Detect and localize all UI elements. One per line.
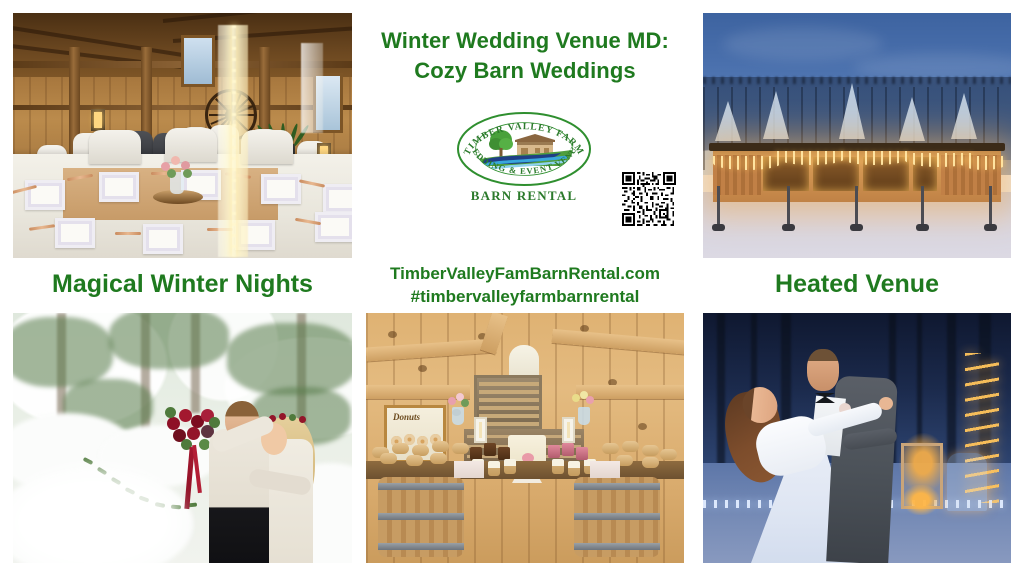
logo-subtitle: BARN RENTAL <box>455 188 593 204</box>
lantern-right <box>562 417 575 443</box>
qr-code-graphic <box>622 172 676 226</box>
title-line-2: Cozy Barn Weddings <box>360 56 690 86</box>
qr-code[interactable] <box>622 172 676 226</box>
lantern-left <box>474 417 487 443</box>
website-link[interactable]: TimberValleyFamBarnRental.com <box>360 262 690 285</box>
caption-right: Heated Venue <box>703 270 1011 299</box>
floral-crown <box>269 413 311 425</box>
banquet-table <box>13 154 352 258</box>
photo-barn-interior <box>13 13 352 258</box>
barn-roof <box>709 143 1005 151</box>
brand-logo: TIMBER VALLEY FARM WEDDING & EVENT VENUE… <box>455 110 593 210</box>
decorated-chair <box>947 453 987 511</box>
napkin-stack-right <box>590 461 620 478</box>
groom-head <box>807 349 839 391</box>
title-line-1: Winter Wedding Venue MD: <box>360 26 690 56</box>
flower-arrangement-left <box>448 393 468 408</box>
hashtag-text[interactable]: #timbervalleyfarmbarnrental <box>360 285 690 308</box>
donut-sign-text: Donuts <box>393 412 420 422</box>
photo-dessert-table: Donuts <box>366 313 684 563</box>
napkin-stack-left <box>454 461 484 478</box>
window-drape <box>301 43 323 133</box>
logo-oval-graphic: TIMBER VALLEY FARM WEDDING & EVENT VENUE <box>455 110 593 188</box>
wine-barrel-right <box>574 477 660 557</box>
flower-arrangement-right <box>572 391 592 406</box>
clasped-hands <box>879 397 893 410</box>
page-title: Winter Wedding Venue MD: Cozy Barn Weddi… <box>360 26 690 86</box>
wine-barrel-left <box>378 477 464 557</box>
collage-canvas: Winter Wedding Venue MD: Cozy Barn Weddi… <box>0 0 1024 577</box>
barn-window <box>181 35 215 87</box>
caption-left: Magical Winter Nights <box>13 270 352 299</box>
photo-snow-couple <box>13 313 352 563</box>
photo-barn-winter <box>703 13 1011 258</box>
photo-night-dance <box>703 313 1011 563</box>
floral-centerpiece <box>151 158 205 204</box>
contact-links: TimberValleyFamBarnRental.com #timberval… <box>360 262 690 308</box>
fairy-light-drape <box>218 25 248 257</box>
